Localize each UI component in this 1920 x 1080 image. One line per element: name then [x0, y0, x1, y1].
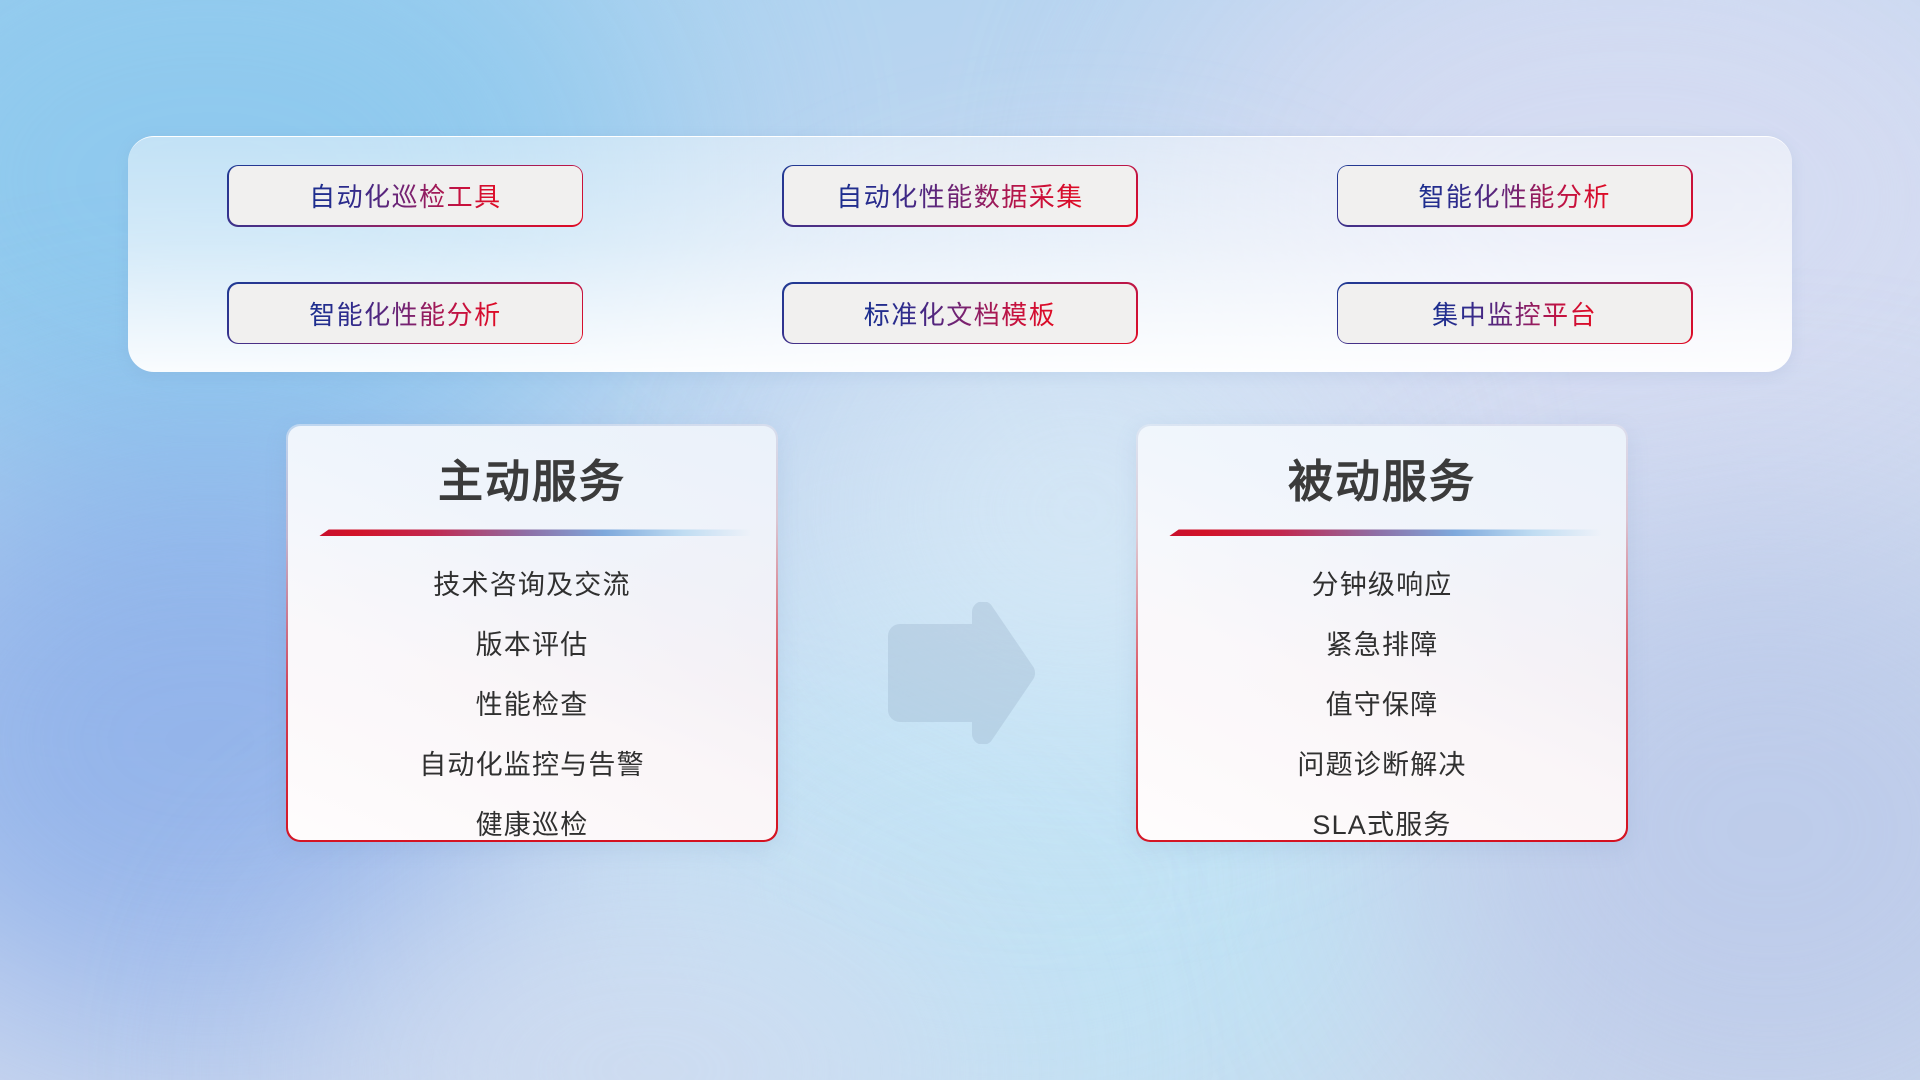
- capability-pill-label: 标准化文档模板: [864, 295, 1057, 332]
- slide-canvas: 自动化巡检工具 自动化性能数据采集 智能化性能分析 智能化性能分析: [0, 0, 1920, 1080]
- service-card-surface: 主动服务 技术咨询及交流 版本评估 性能检查 自动化监控与告警 健康巡检: [288, 426, 777, 841]
- capability-pill-surface: 自动化巡检工具: [229, 166, 582, 225]
- capability-pill-surface: 智能化性能分析: [229, 284, 582, 343]
- background-blob: [300, 860, 1000, 1080]
- capability-pill-surface: 自动化性能数据采集: [784, 166, 1137, 225]
- service-card-divider: [1169, 529, 1603, 538]
- service-card-reactive[interactable]: 被动服务 分钟级响应 紧急排障 值守保障 问题诊断解决 SLA式服务: [1136, 424, 1628, 842]
- service-card-divider: [319, 529, 753, 538]
- capability-pill-intelligent-perf-analysis-top[interactable]: 智能化性能分析: [1337, 165, 1693, 227]
- service-item: 性能检查: [288, 692, 777, 719]
- service-item: 值守保障: [1138, 692, 1627, 719]
- arrow-right-glyph: [876, 602, 1040, 744]
- service-item: 自动化监控与告警: [288, 752, 777, 779]
- service-card-title: 主动服务: [288, 456, 777, 508]
- capability-pill-surface: 智能化性能分析: [1338, 166, 1691, 225]
- service-item: SLA式服务: [1138, 812, 1627, 839]
- capability-pill-label: 智能化性能分析: [1418, 177, 1611, 214]
- service-item: 紧急排障: [1138, 632, 1627, 659]
- capability-pill-centralized-monitor-platform[interactable]: 集中监控平台: [1337, 282, 1693, 344]
- capability-pill-label: 智能化性能分析: [309, 295, 502, 332]
- service-card-surface: 被动服务 分钟级响应 紧急排障 值守保障 问题诊断解决 SLA式服务: [1138, 426, 1627, 841]
- service-item: 技术咨询及交流: [288, 572, 777, 599]
- service-item: 版本评估: [288, 632, 777, 659]
- arrow-right-icon: [876, 602, 1040, 744]
- capability-pill-automated-inspection-tool[interactable]: 自动化巡检工具: [227, 165, 583, 227]
- capability-pill-intelligent-perf-analysis-bottom[interactable]: 智能化性能分析: [227, 282, 583, 344]
- service-item: 问题诊断解决: [1138, 752, 1627, 779]
- service-item-list: 分钟级响应 紧急排障 值守保障 问题诊断解决 SLA式服务: [1138, 538, 1627, 839]
- service-card-title: 被动服务: [1138, 456, 1627, 508]
- service-item-list: 技术咨询及交流 版本评估 性能检查 自动化监控与告警 健康巡检: [288, 538, 777, 839]
- capability-pill-surface: 集中监控平台: [1338, 284, 1691, 343]
- capability-pill-automated-perf-collection[interactable]: 自动化性能数据采集: [782, 165, 1138, 227]
- service-item: 健康巡检: [288, 812, 777, 839]
- capability-pill-surface: 标准化文档模板: [784, 284, 1137, 343]
- capability-pill-label: 集中监控平台: [1432, 295, 1597, 332]
- capability-pill-label: 自动化巡检工具: [309, 177, 502, 214]
- capability-pill-grid: 自动化巡检工具 自动化性能数据采集 智能化性能分析 智能化性能分析: [128, 137, 1792, 372]
- capability-pill-standardized-doc-template[interactable]: 标准化文档模板: [782, 282, 1138, 344]
- capability-pill-label: 自动化性能数据采集: [836, 177, 1084, 214]
- service-card-proactive[interactable]: 主动服务 技术咨询及交流 版本评估 性能检查 自动化监控与告警 健康巡检: [286, 424, 778, 842]
- capability-panel: 自动化巡检工具 自动化性能数据采集 智能化性能分析 智能化性能分析: [128, 136, 1792, 372]
- service-item: 分钟级响应: [1138, 572, 1627, 599]
